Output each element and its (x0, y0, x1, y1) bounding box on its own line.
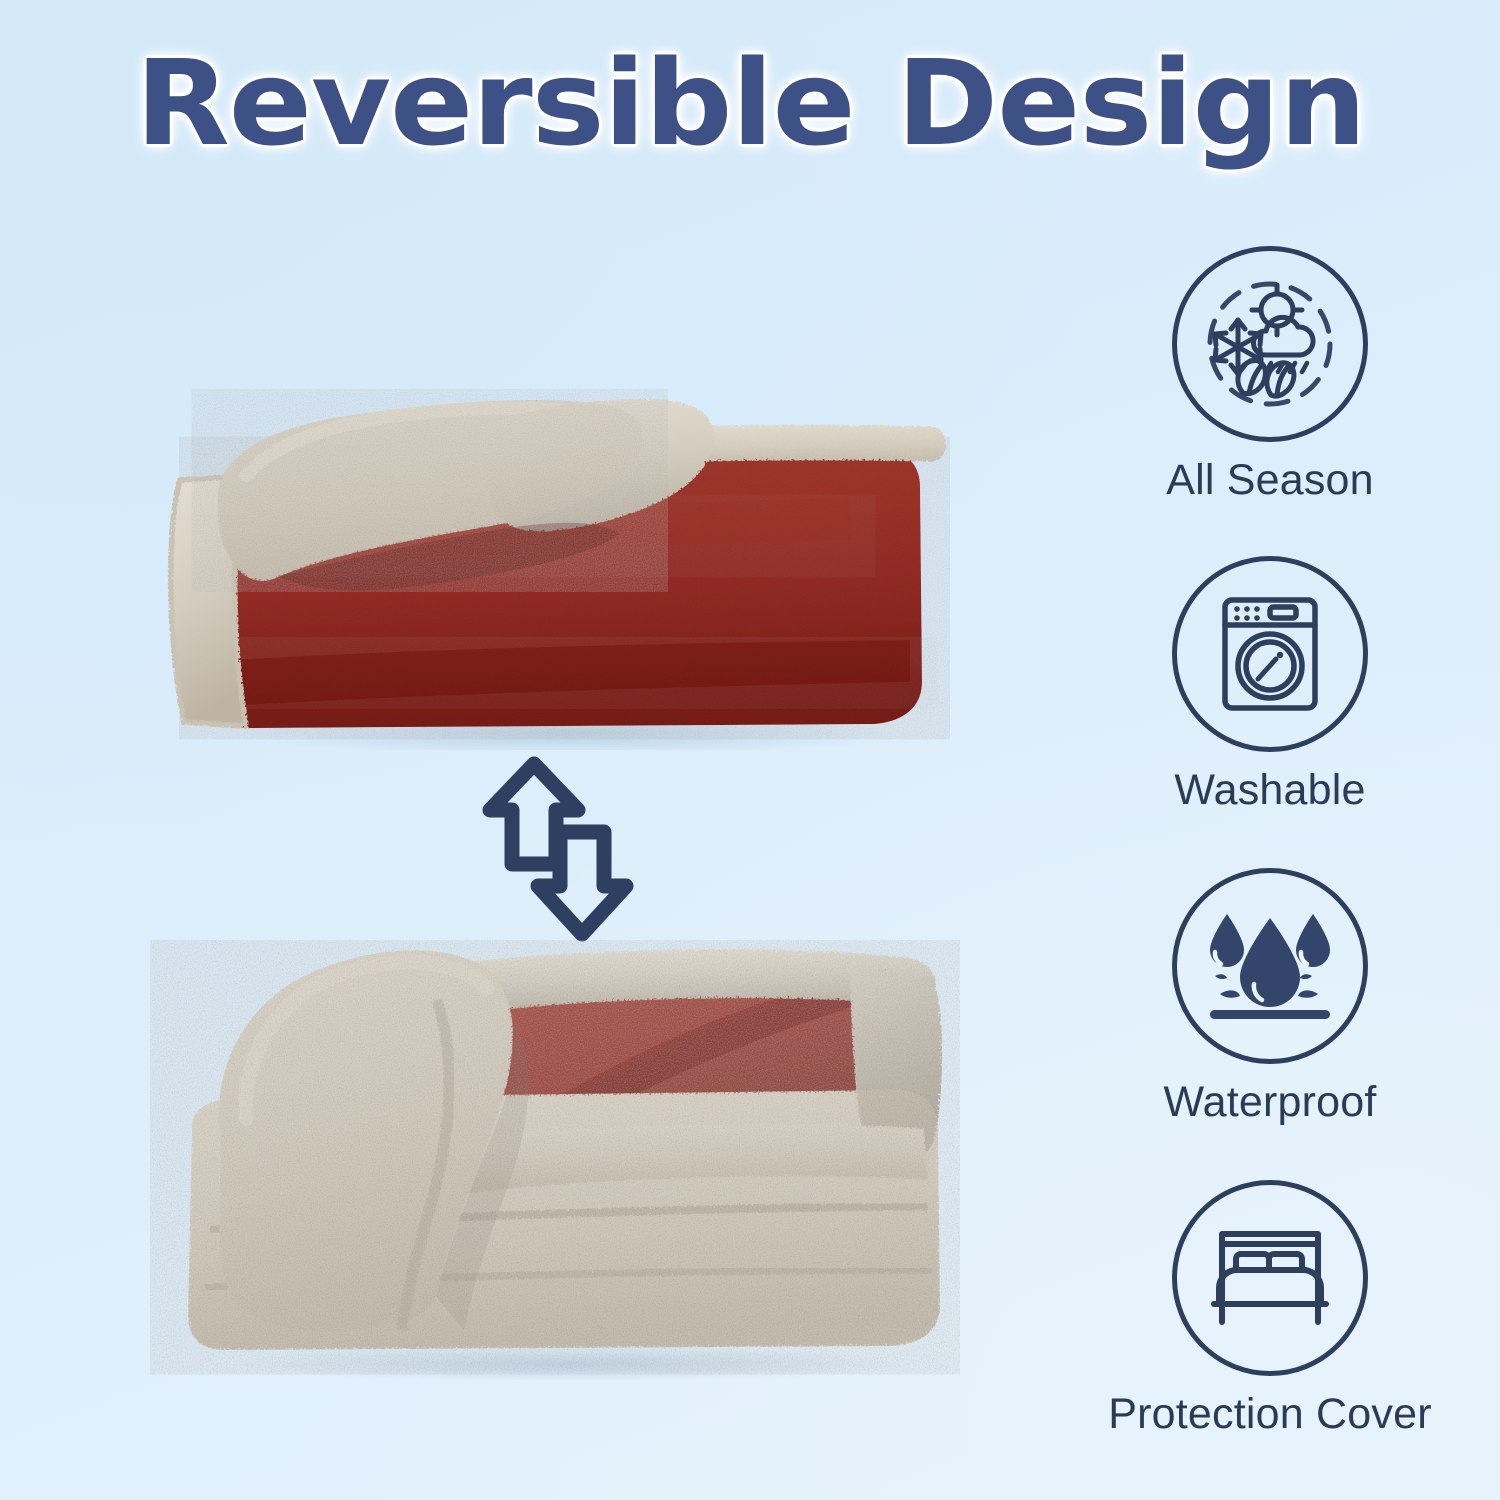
product-photo-fleece-side (150, 330, 950, 750)
up-down-arrow-glyph (478, 752, 638, 948)
washing-machine-glyph (1200, 584, 1340, 724)
folded-blanket-fleece-illustration (150, 330, 950, 750)
bed-glyph (1200, 1208, 1340, 1348)
feature-item-waterproof: Waterproof (1040, 868, 1500, 1127)
feature-item-washable: Washable (1040, 556, 1500, 815)
water-droplets-icon (1172, 868, 1368, 1064)
product-photo-sherpa-side (150, 940, 960, 1380)
infographic-canvas: Reversible Design (0, 0, 1500, 1500)
feature-label: Protection Cover (1040, 1390, 1500, 1439)
all-season-icon (1172, 246, 1368, 442)
feature-item-all-season: All Season (1040, 246, 1500, 505)
feature-label: Washable (1040, 766, 1500, 815)
feature-label: Waterproof (1040, 1078, 1500, 1127)
washing-machine-icon (1172, 556, 1368, 752)
water-droplets-glyph (1196, 892, 1344, 1040)
page-title-container: Reversible Design (0, 40, 1500, 167)
feature-item-protection-cover: Protection Cover (1040, 1180, 1500, 1439)
folded-blanket-sherpa-illustration (150, 940, 960, 1380)
feature-list: All Season (1040, 236, 1500, 1486)
all-season-glyph (1195, 269, 1345, 419)
reversible-arrows-icon (478, 752, 638, 948)
feature-label: All Season (1040, 456, 1500, 505)
page-title: Reversible Design (135, 40, 1365, 167)
bed-icon (1172, 1180, 1368, 1376)
